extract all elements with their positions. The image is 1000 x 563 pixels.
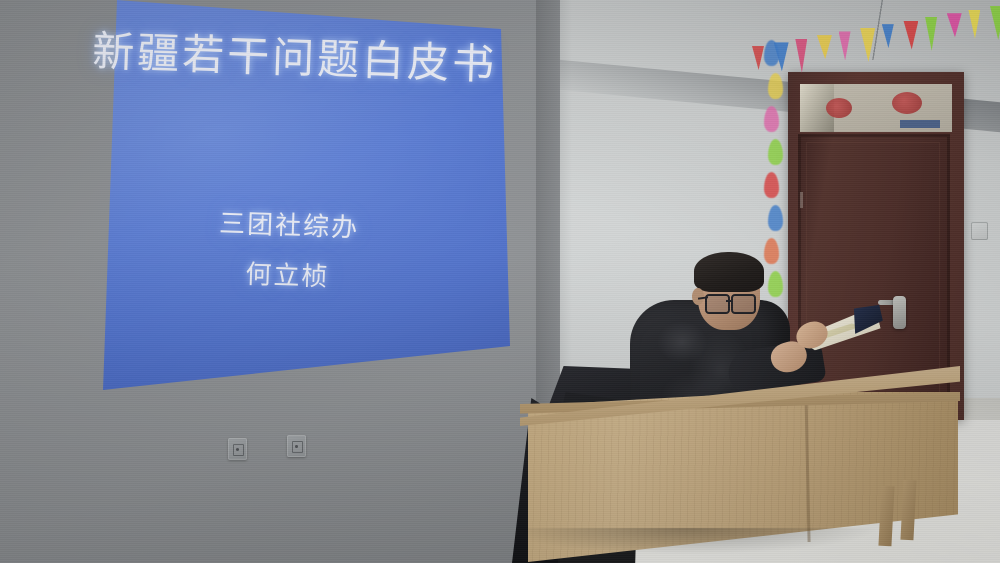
switch-dot-icon <box>236 448 239 451</box>
person-hair <box>694 252 764 292</box>
door-hinge <box>800 192 803 208</box>
photo-scene: 新疆若干问题白皮书 三团社综办 何立桢 <box>0 0 1000 563</box>
transom-sign <box>900 120 940 128</box>
light-switch-left[interactable] <box>228 438 247 460</box>
door-transom-window <box>800 84 952 132</box>
podium-floor-shadow <box>520 528 940 563</box>
glasses-right-lens <box>731 294 756 314</box>
bunting-string <box>748 0 1000 60</box>
wall-plate <box>971 222 988 240</box>
switch-dot-icon <box>295 445 298 448</box>
red-paper-cutting-icon <box>826 98 852 118</box>
red-paper-cutting-icon <box>892 92 922 114</box>
door-handle[interactable] <box>893 296 906 329</box>
glasses-left-lens <box>705 294 730 314</box>
light-switch-right[interactable] <box>287 435 306 457</box>
glasses-bridge <box>726 300 732 302</box>
